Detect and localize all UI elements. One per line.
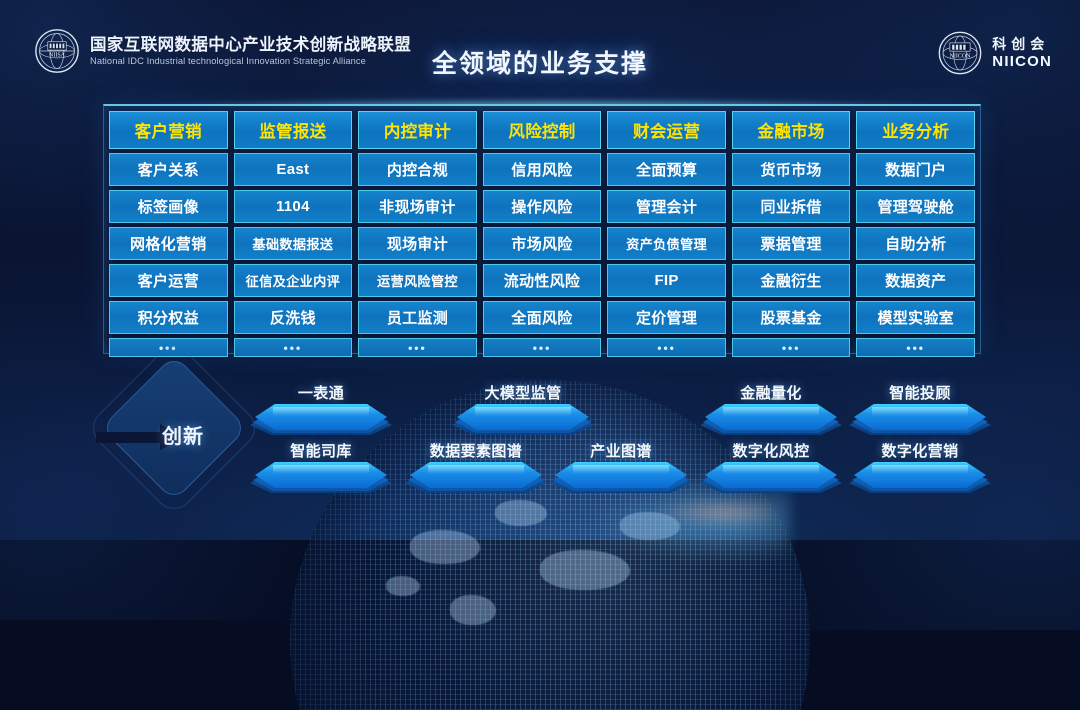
matrix-column-header[interactable]: 业务分析 [856, 111, 975, 149]
matrix-cell[interactable]: FIP [607, 264, 726, 297]
hex-layer-front [854, 404, 986, 430]
solution-hex-tile[interactable]: 一表通 [255, 382, 387, 438]
matrix-cell[interactable]: 数据资产 [856, 264, 975, 297]
svg-text:NIICON: NIICON [950, 54, 972, 60]
hex-layer-front [705, 462, 837, 488]
matrix-cell[interactable]: 客户运营 [109, 264, 228, 297]
matrix-cell[interactable]: 同业拆借 [732, 190, 851, 223]
matrix-column: 内控审计内控合规非现场审计现场审计运营风险管控员工监测••• [358, 111, 477, 357]
matrix-cell[interactable]: 全面风险 [483, 301, 602, 334]
capability-matrix-grid: 客户营销客户关系标签画像网格化营销客户运营积分权益•••监管报送East1104… [109, 111, 975, 347]
matrix-column: 监管报送East1104基础数据报送征信及企业内评反洗钱••• [234, 111, 353, 357]
hex-platform [457, 404, 589, 438]
matrix-cell[interactable]: 票据管理 [732, 227, 851, 260]
solution-hex-label: 智能司库 [255, 440, 387, 461]
matrix-cell[interactable]: 数据门户 [856, 153, 975, 186]
matrix-cell[interactable]: 管理驾驶舱 [856, 190, 975, 223]
matrix-column-header[interactable]: 财会运营 [607, 111, 726, 149]
slide-header: NIISA 国家互联网数据中心产业技术创新战略联盟 National IDC I… [0, 0, 1080, 92]
matrix-cell[interactable]: 现场审计 [358, 227, 477, 260]
solution-hex-tile[interactable]: 智能投顾 [854, 382, 986, 438]
hex-platform [705, 404, 837, 438]
matrix-cell[interactable]: East [234, 153, 353, 186]
matrix-cell[interactable]: 模型实验室 [856, 301, 975, 334]
matrix-cell[interactable]: 征信及企业内评 [234, 264, 353, 297]
capability-matrix-panel: 客户营销客户关系标签画像网格化营销客户运营积分权益•••监管报送East1104… [103, 104, 981, 354]
matrix-cell[interactable]: 标签画像 [109, 190, 228, 223]
matrix-cell[interactable]: 货币市场 [732, 153, 851, 186]
hex-platform [854, 462, 986, 496]
matrix-cell[interactable]: 1104 [234, 190, 353, 223]
matrix-cell[interactable]: 非现场审计 [358, 190, 477, 223]
hex-layer-front [555, 462, 687, 488]
solution-hex-label: 大模型监管 [457, 382, 589, 403]
matrix-cell[interactable]: 金融衍生 [732, 264, 851, 297]
solution-hex-label: 数字化营销 [854, 440, 986, 461]
hex-platform [854, 404, 986, 438]
solution-hex-label: 产业图谱 [555, 440, 687, 461]
matrix-column-header[interactable]: 客户营销 [109, 111, 228, 149]
solution-hex-label: 数据要素图谱 [410, 440, 542, 461]
hex-platform [255, 462, 387, 496]
solution-hex-tile[interactable]: 数字化营销 [854, 440, 986, 496]
matrix-cell[interactable]: 运营风险管控 [358, 264, 477, 297]
solution-hex-tile[interactable]: 数据要素图谱 [410, 440, 542, 496]
page-title: 全领域的业务支撑 [0, 44, 1080, 80]
matrix-cell[interactable]: 股票基金 [732, 301, 851, 334]
hex-platform [705, 462, 837, 496]
hex-platform [555, 462, 687, 496]
matrix-column-header[interactable]: 监管报送 [234, 111, 353, 149]
matrix-cell[interactable]: 信用风险 [483, 153, 602, 186]
matrix-cell[interactable]: 自助分析 [856, 227, 975, 260]
matrix-cell[interactable]: 网格化营销 [109, 227, 228, 260]
matrix-cell[interactable]: 内控合规 [358, 153, 477, 186]
solution-hex-label: 数字化风控 [705, 440, 837, 461]
matrix-column-header[interactable]: 内控审计 [358, 111, 477, 149]
matrix-cell[interactable]: 市场风险 [483, 227, 602, 260]
matrix-cell[interactable]: 员工监测 [358, 301, 477, 334]
matrix-column: 财会运营全面预算管理会计资产负债管理FIP定价管理••• [607, 111, 726, 357]
matrix-cell[interactable]: 定价管理 [607, 301, 726, 334]
niicon-name-en: NIICON [992, 53, 1052, 71]
globe-landmass [386, 576, 420, 596]
solution-hex-tile[interactable]: 金融量化 [705, 382, 837, 438]
matrix-column-header[interactable]: 金融市场 [732, 111, 851, 149]
niicon-globe-icon: NIICON [937, 30, 983, 76]
matrix-cell[interactable]: 全面预算 [607, 153, 726, 186]
matrix-cell[interactable]: 资产负债管理 [607, 227, 726, 260]
matrix-cell[interactable]: 基础数据报送 [234, 227, 353, 260]
solution-hex-label: 金融量化 [705, 382, 837, 403]
matrix-column: 风险控制信用风险操作风险市场风险流动性风险全面风险••• [483, 111, 602, 357]
slide-canvas: NIISA 国家互联网数据中心产业技术创新战略联盟 National IDC I… [0, 0, 1080, 540]
matrix-column-header[interactable]: 风险控制 [483, 111, 602, 149]
matrix-column: 金融市场货币市场同业拆借票据管理金融衍生股票基金••• [732, 111, 851, 357]
solution-hex-label: 智能投顾 [854, 382, 986, 403]
solution-hex-tile[interactable]: 大模型监管 [457, 382, 589, 438]
solution-hex-group: 一表通大模型监管金融量化智能投顾智能司库数据要素图谱产业图谱数字化风控数字化营销 [0, 352, 1080, 540]
hex-layer-front [854, 462, 986, 488]
hex-layer-front [705, 404, 837, 430]
matrix-cell[interactable]: 反洗钱 [234, 301, 353, 334]
hex-layer-front [255, 404, 387, 430]
matrix-cell[interactable]: 操作风险 [483, 190, 602, 223]
matrix-cell[interactable]: 积分权益 [109, 301, 228, 334]
hex-layer-front [457, 404, 589, 430]
solution-hex-label: 一表通 [255, 382, 387, 403]
hex-platform [255, 404, 387, 438]
hex-layer-front [255, 462, 387, 488]
matrix-column: 业务分析数据门户管理驾驶舱自助分析数据资产模型实验室••• [856, 111, 975, 357]
hex-platform [410, 462, 542, 496]
solution-hex-tile[interactable]: 产业图谱 [555, 440, 687, 496]
matrix-cell[interactable]: 流动性风险 [483, 264, 602, 297]
hex-layer-front [410, 462, 542, 488]
solution-hex-tile[interactable]: 数字化风控 [705, 440, 837, 496]
niicon-logo: NIICON 科创会 NIICON [937, 30, 1052, 76]
matrix-column: 客户营销客户关系标签画像网格化营销客户运营积分权益••• [109, 111, 228, 357]
niicon-name-cn: 科创会 [992, 36, 1052, 53]
matrix-cell[interactable]: 管理会计 [607, 190, 726, 223]
globe-landmass [540, 550, 630, 590]
matrix-cell[interactable]: 客户关系 [109, 153, 228, 186]
solution-hex-tile[interactable]: 智能司库 [255, 440, 387, 496]
globe-landmass [450, 595, 496, 625]
